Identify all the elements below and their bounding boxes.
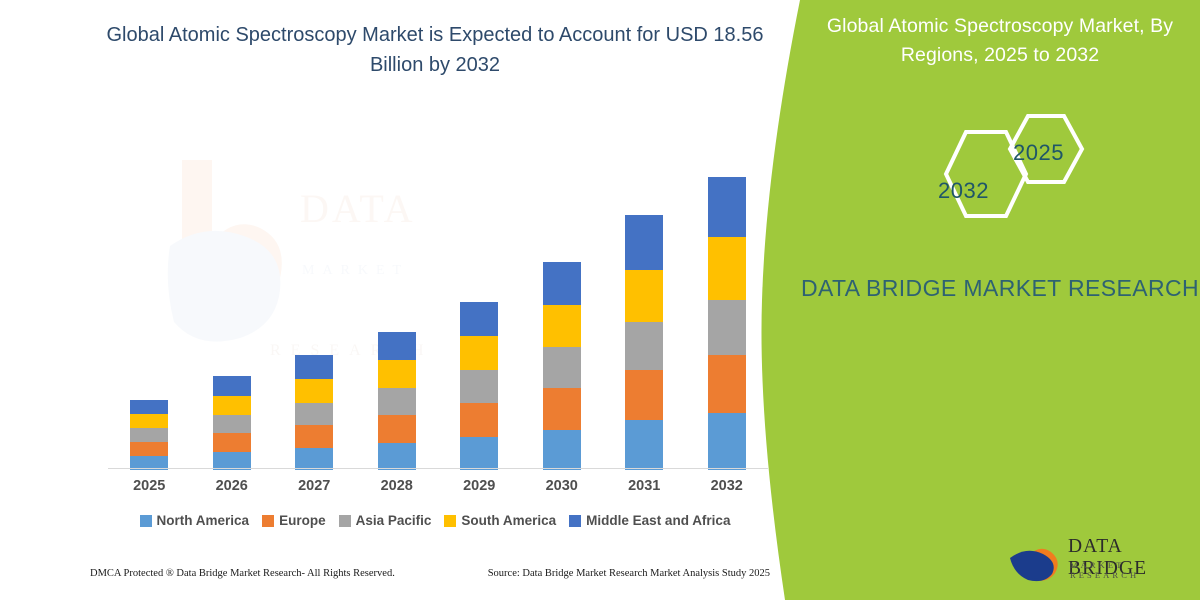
bar-segment (460, 403, 498, 437)
bar-segment (378, 443, 416, 470)
x-tick-2026: 2026 (192, 478, 272, 494)
footer: DMCA Protected ® Data Bridge Market Rese… (90, 568, 770, 579)
page-title: Global Atomic Spectroscopy Market is Exp… (105, 20, 765, 80)
bar-chart-plot (108, 140, 768, 470)
bar-segment (378, 388, 416, 415)
legend-item[interactable]: Middle East and Africa (569, 513, 730, 528)
bar-2028 (378, 332, 416, 470)
bar-segment (460, 437, 498, 470)
bar-segment (295, 403, 333, 425)
legend-label: Asia Pacific (356, 513, 432, 528)
logo-subtext: MARKET RESEARCH (1070, 560, 1194, 580)
x-axis-tick-labels: 20252026202720282029203020312032 (108, 478, 768, 502)
bar-segment (213, 415, 251, 433)
legend-item[interactable]: South America (444, 513, 556, 528)
x-tick-2028: 2028 (357, 478, 437, 494)
data-bridge-logo: DATA BRIDGE MARKET RESEARCH (1008, 528, 1194, 586)
legend-item[interactable]: Europe (262, 513, 326, 528)
bar-segment (625, 215, 663, 270)
hexagon-group (918, 112, 1108, 237)
x-tick-2030: 2030 (522, 478, 602, 494)
bar-segment (130, 442, 168, 456)
legend-label: South America (461, 513, 556, 528)
bar-segment (378, 415, 416, 443)
bar-2031 (625, 215, 663, 470)
bar-2025 (130, 400, 168, 470)
footer-copyright: DMCA Protected ® Data Bridge Market Rese… (90, 568, 395, 579)
legend-swatch-icon (569, 515, 581, 527)
legend-label: North America (157, 513, 250, 528)
bar-segment (543, 347, 581, 388)
chart-legend: North AmericaEuropeAsia PacificSouth Ame… (100, 513, 770, 528)
bar-segment (130, 428, 168, 442)
hexagon-2025-label: 2025 (1013, 140, 1064, 166)
bar-segment (378, 332, 416, 360)
logo-mark-icon (1008, 530, 1064, 582)
footer-source: Source: Data Bridge Market Research Mark… (488, 568, 770, 579)
bar-segment (378, 360, 416, 388)
bar-segment (625, 270, 663, 322)
green-side-panel: Global Atomic Spectroscopy Market, By Re… (740, 0, 1200, 600)
legend-label: Middle East and Africa (586, 513, 730, 528)
legend-item[interactable]: North America (140, 513, 250, 528)
bar-2027 (295, 355, 333, 470)
x-tick-2029: 2029 (439, 478, 519, 494)
bar-segment (213, 396, 251, 415)
bar-segment (295, 448, 333, 470)
x-tick-2031: 2031 (604, 478, 684, 494)
legend-item[interactable]: Asia Pacific (339, 513, 432, 528)
legend-swatch-icon (140, 515, 152, 527)
x-axis-line (108, 468, 768, 469)
bar-segment (460, 336, 498, 370)
bar-segment (543, 388, 581, 430)
bar-segment (460, 302, 498, 336)
bar-segment (625, 322, 663, 370)
brand-name: DATA BRIDGE MARKET RESEARCH (800, 272, 1200, 305)
bar-segment (625, 370, 663, 420)
bar-segment (460, 370, 498, 403)
bar-segment (213, 433, 251, 452)
x-tick-2025: 2025 (109, 478, 189, 494)
legend-swatch-icon (339, 515, 351, 527)
panel-title: Global Atomic Spectroscopy Market, By Re… (810, 12, 1190, 70)
x-tick-2027: 2027 (274, 478, 354, 494)
bar-segment (543, 430, 581, 470)
bar-segment (295, 425, 333, 448)
bar-2026 (213, 376, 251, 470)
bar-segment (130, 414, 168, 428)
bar-segment (543, 305, 581, 347)
hexagon-2032-label: 2032 (938, 178, 989, 204)
bar-segment (295, 379, 333, 403)
bar-2029 (460, 302, 498, 470)
legend-swatch-icon (262, 515, 274, 527)
bar-segment (543, 262, 581, 305)
legend-swatch-icon (444, 515, 456, 527)
bar-segment (130, 400, 168, 414)
bar-2030 (543, 262, 581, 470)
legend-label: Europe (279, 513, 326, 528)
bar-segment (213, 376, 251, 396)
bar-segment (625, 420, 663, 470)
bar-segment (295, 355, 333, 379)
infographic-root: Global Atomic Spectroscopy Market is Exp… (0, 0, 1200, 600)
